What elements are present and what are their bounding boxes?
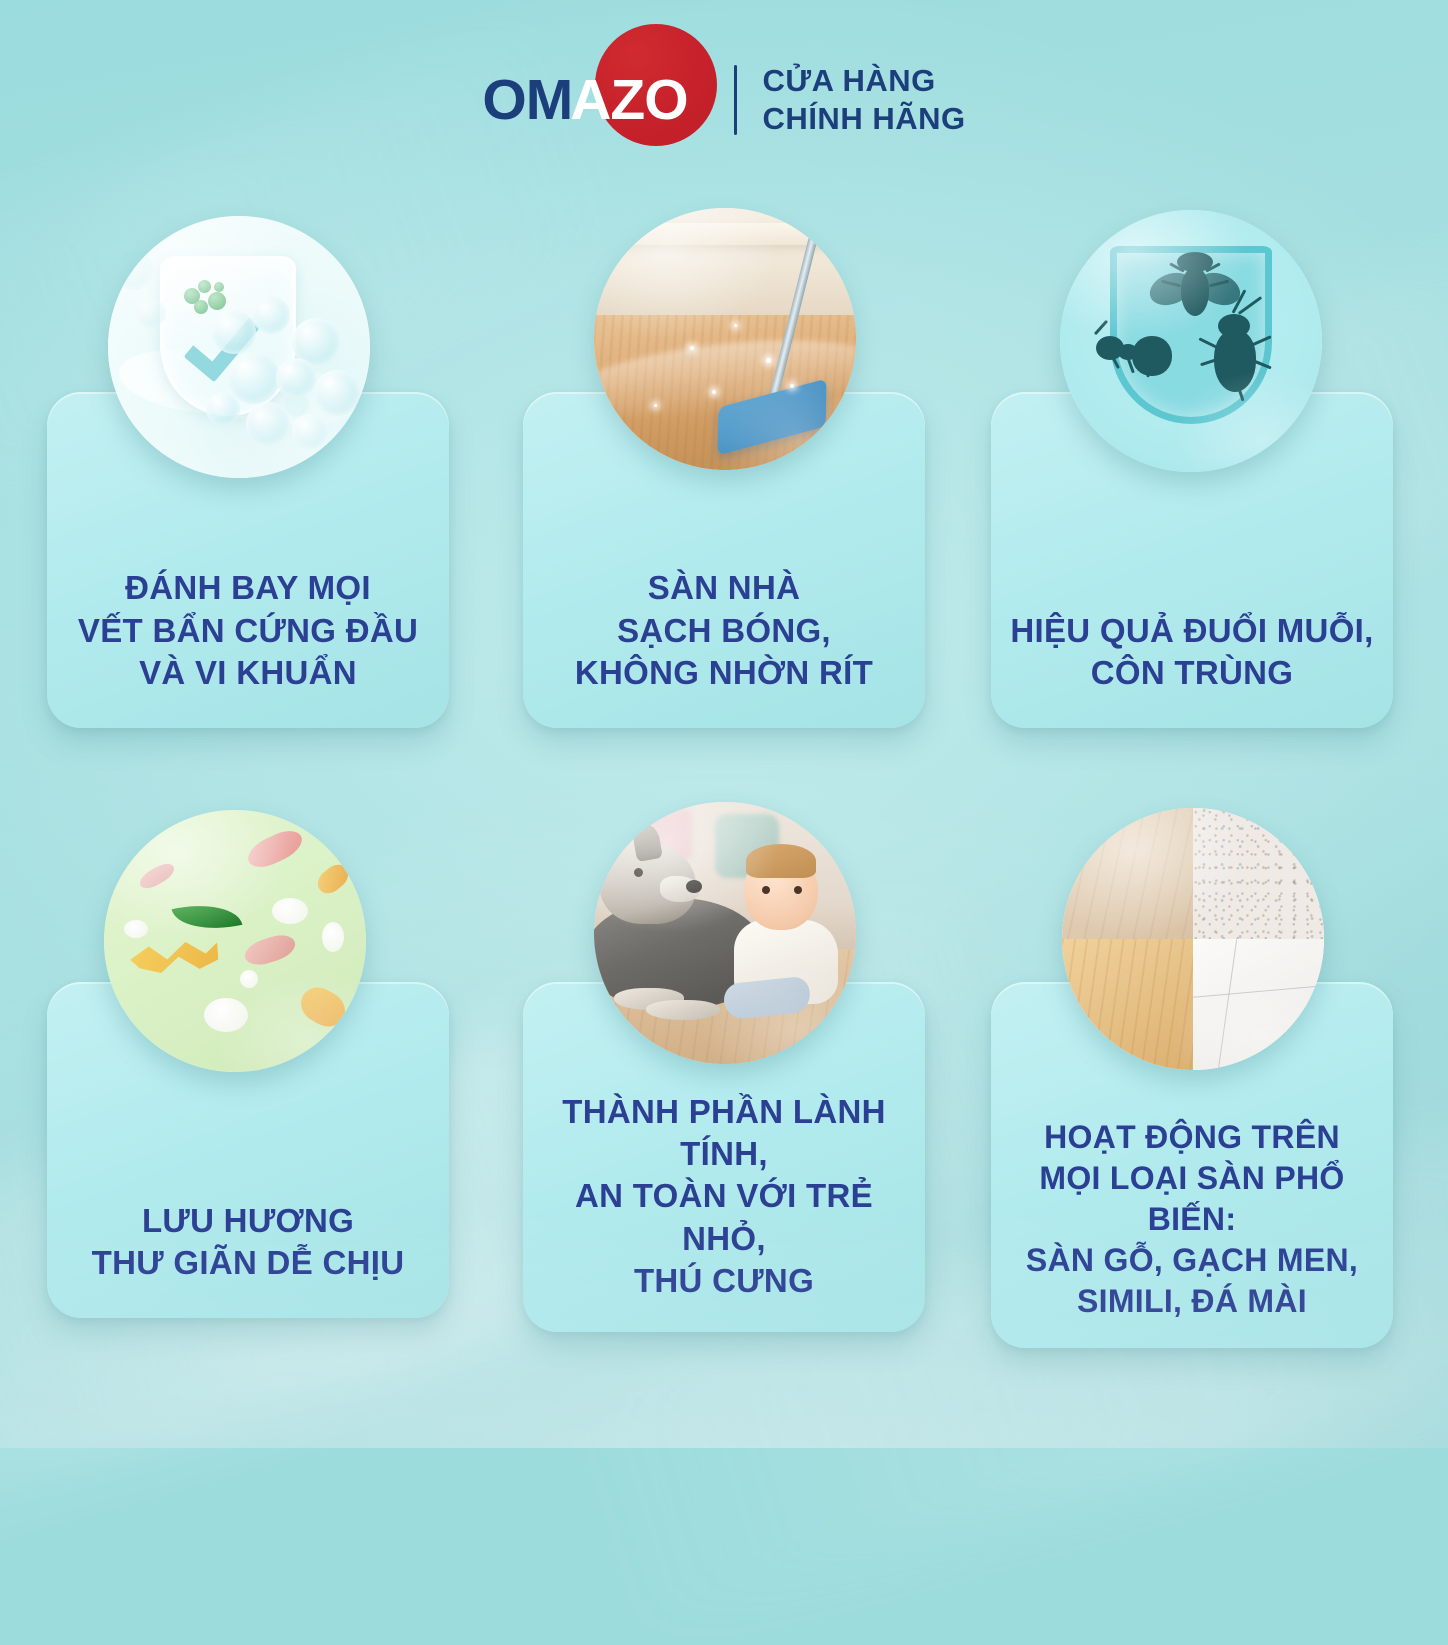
floor-types-quadrant-image [1062, 808, 1324, 1070]
feature-cell-safe-ingredients: THÀNH PHẦN LÀNH TÍNH, AN TOÀN VỚI TRẺ NH… [489, 958, 959, 1528]
feature-cell-all-floor-types: HOẠT ĐỘNG TRÊN MỌI LOẠI SÀN PHỔ BIẾN: SÀ… [965, 958, 1435, 1528]
tagline-line-1: CỬA HÀNG [763, 62, 966, 100]
omazo-logo: OM AZO [482, 72, 687, 129]
dog-and-baby-image [594, 802, 856, 1064]
ant-icon [1094, 324, 1180, 400]
logo-text-om: OM [482, 72, 572, 129]
mop-wooden-floor-image [594, 208, 856, 470]
logo-divider [734, 65, 737, 135]
herb-petal-dish-image [104, 810, 366, 1072]
feature-grid: ĐÁNH BAY MỌI VẾT BẨN CỨNG ĐẦU VÀ VI KHUẨ… [0, 188, 1448, 1448]
logo-text-azo: AZO [570, 72, 687, 129]
bubble-shield-checkmark-image [108, 216, 370, 478]
golden-wood-quadrant [1062, 939, 1193, 1070]
green-leaf-icon [172, 895, 243, 938]
feature-cell-relaxing-scent: LƯU HƯƠNG THƯ GIÃN DỄ CHỊU [13, 958, 483, 1528]
wood-floor-quadrant [1062, 808, 1193, 939]
brand-tagline: CỬA HÀNG CHÍNH HÃNG [763, 62, 966, 138]
tagline-line-2: CHÍNH HÃNG [763, 100, 966, 138]
cockroach-icon [1200, 308, 1286, 418]
terrazzo-floor-quadrant [1193, 808, 1324, 939]
brand-header: OM AZO CỬA HÀNG CHÍNH HÃNG [0, 20, 1448, 180]
marble-tile-quadrant [1193, 939, 1324, 1070]
citrus-peel-icon [129, 935, 219, 975]
insect-shield-image [1060, 210, 1322, 472]
